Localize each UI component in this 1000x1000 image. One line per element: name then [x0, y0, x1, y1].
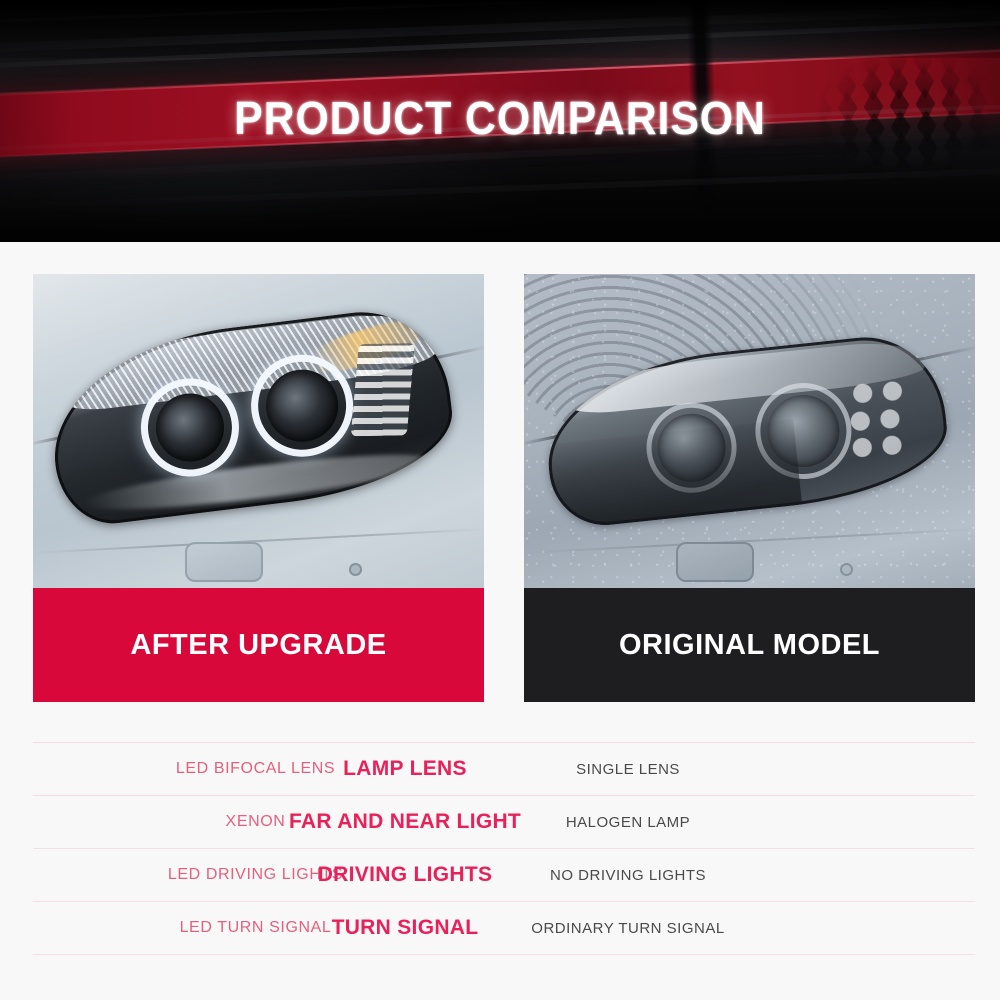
after-upgrade-label: AFTER UPGRADE: [130, 629, 386, 662]
page-title: PRODUCT COMPARISON: [35, 92, 965, 144]
table-row: LED BIFOCAL LENS LAMP LENS SINGLE LENS: [33, 742, 975, 795]
original-model-label-bar: ORIGINAL MODEL: [524, 588, 975, 702]
upgraded-headlight-photo: [33, 274, 484, 588]
table-row: LED TURN SIGNAL TURN SIGNAL ORDINARY TUR…: [33, 901, 975, 955]
spec-comparison-table: LED BIFOCAL LENS LAMP LENS SINGLE LENS X…: [33, 742, 975, 955]
lamp-inner-reflector: [82, 445, 435, 520]
table-row: XENON FAR AND NEAR LIGHT HALOGEN LAMP: [33, 795, 975, 848]
led-turn-signal-module: [351, 343, 415, 436]
after-upgrade-label-bar: AFTER UPGRADE: [33, 588, 484, 702]
after-upgrade-panel: AFTER UPGRADE: [33, 274, 484, 702]
table-row: LED DRIVING LIGHTS DRIVING LIGHTS NO DRI…: [33, 848, 975, 901]
tow-hook-cover: [676, 542, 754, 582]
original-spec-value: NO DRIVING LIGHTS: [478, 867, 778, 884]
product-comparison-page: PRODUCT COMPARISON: [0, 0, 1000, 1000]
park-sensor: [349, 563, 362, 576]
ordinary-turn-signal-cluster: [844, 376, 921, 461]
hero-banner: PRODUCT COMPARISON: [0, 0, 1000, 242]
park-sensor: [840, 563, 853, 576]
original-model-panel: ORIGINAL MODEL: [524, 274, 975, 702]
original-spec-value: SINGLE LENS: [478, 761, 778, 778]
original-model-label: ORIGINAL MODEL: [619, 629, 880, 662]
hero-bottom-shade: [0, 156, 1000, 242]
tow-hook-cover: [185, 542, 263, 582]
original-headlight-photo: [524, 274, 975, 588]
original-spec-value: ORDINARY TURN SIGNAL: [478, 920, 778, 937]
hero-top-shade: [0, 0, 1000, 58]
original-spec-value: HALOGEN LAMP: [478, 814, 778, 831]
comparison-panels: AFTER UPGRADE: [33, 274, 975, 702]
